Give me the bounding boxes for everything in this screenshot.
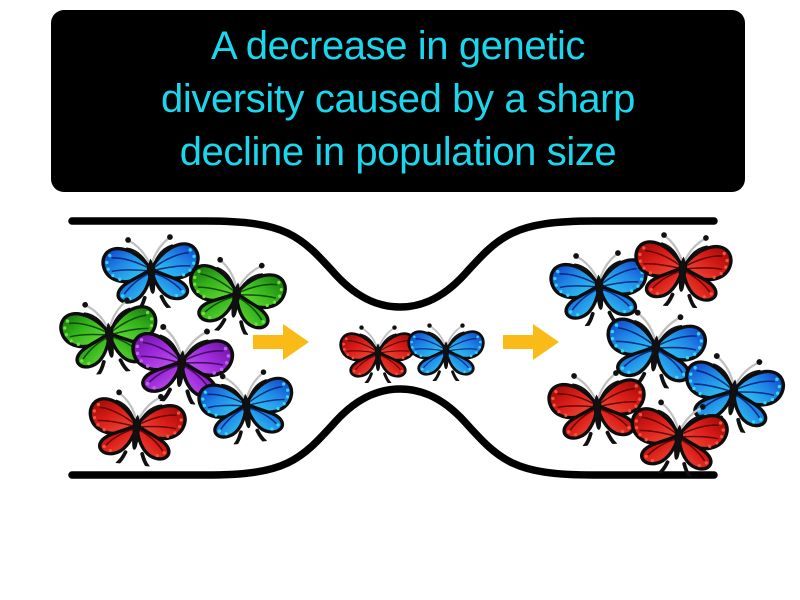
butterfly-red-1-icon (82, 376, 192, 470)
definition-title-banner: A decrease in genetic diversity caused b… (51, 10, 745, 192)
title-line-3: decline in population size (180, 126, 617, 179)
arrow-bottleneck-to-surviving-icon (503, 323, 559, 361)
butterfly-red-4-icon (624, 386, 734, 480)
butterfly-red-2-icon (629, 220, 737, 311)
genetic-bottleneck-illustration (0, 195, 800, 495)
title-line-1: A decrease in genetic (211, 20, 585, 73)
butterfly-blue-neck-icon (406, 315, 486, 381)
butterfly-blue-2-icon (192, 356, 300, 448)
title-line-2: diversity caused by a sharp (161, 73, 635, 126)
definition-card: A decrease in genetic diversity caused b… (0, 0, 800, 600)
arrow-original-to-bottleneck-icon (253, 323, 309, 361)
